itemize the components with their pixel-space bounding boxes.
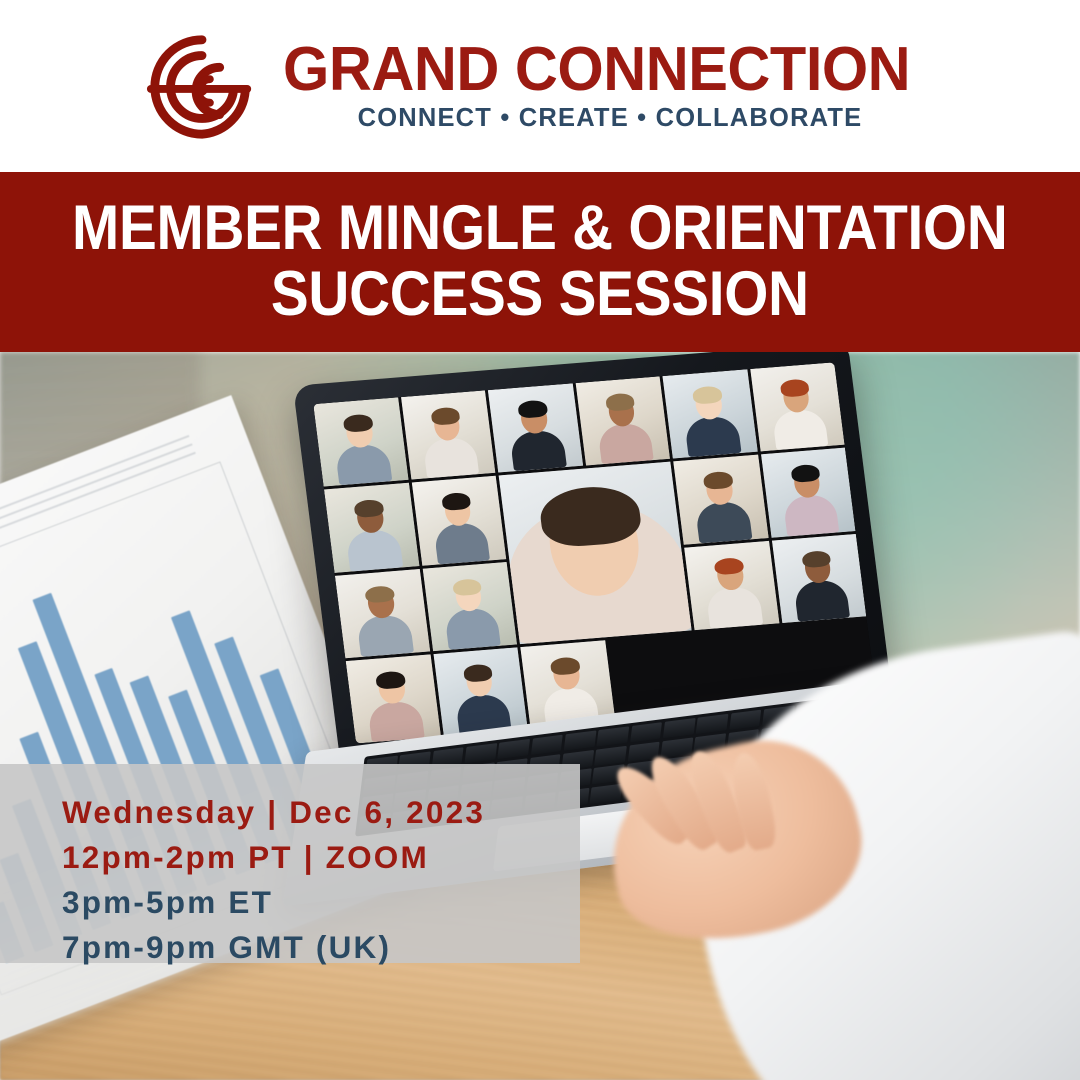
keyboard-key[interactable] — [663, 718, 696, 738]
video-call-grid — [313, 362, 877, 743]
video-tile[interactable] — [662, 369, 757, 458]
participant-hair — [354, 499, 385, 518]
video-tile[interactable] — [771, 533, 866, 622]
title-banner: MEMBER MINGLE & ORIENTATION SUCCESS SESS… — [0, 172, 1080, 352]
brand-tagline: CONNECT • CREATE • COLLABORATE — [358, 103, 863, 134]
participant-hair — [430, 407, 461, 426]
header-logo-bar: GRAND CONNECTION CONNECT • CREATE • COLL… — [0, 0, 1080, 172]
video-tile[interactable] — [324, 483, 419, 572]
video-tile[interactable] — [488, 383, 583, 472]
participant-hair — [692, 386, 723, 405]
video-tile[interactable] — [313, 397, 408, 486]
participant-hair — [550, 656, 581, 675]
keyboard-key[interactable] — [597, 726, 630, 746]
keyboard-key[interactable] — [564, 731, 597, 751]
participant-hair — [703, 471, 734, 490]
keyboard-key[interactable] — [464, 743, 497, 763]
title-line-1: MEMBER MINGLE & ORIENTATION — [72, 196, 1008, 262]
hero-photo — [0, 352, 1080, 1080]
details-line-1: Wednesday | Dec 6, 2023 — [62, 790, 580, 835]
concentric-target-c-icon — [143, 31, 261, 143]
participant-hair — [452, 578, 483, 597]
participant-hair — [343, 414, 374, 433]
participant-hair — [779, 379, 810, 398]
participant-hair — [714, 557, 745, 576]
logo-wordmark: GRAND CONNECTION CONNECT • CREATE • COLL… — [283, 41, 936, 134]
details-line-2: 12pm-2pm PT | ZOOM — [62, 835, 580, 880]
video-tile[interactable] — [761, 448, 856, 537]
participant-hair — [364, 585, 395, 604]
keyboard-key[interactable] — [696, 714, 729, 734]
title-line-2: SUCCESS SESSION — [271, 262, 809, 328]
video-tile[interactable] — [401, 390, 496, 479]
video-tile[interactable] — [750, 362, 845, 451]
participant-hair — [605, 393, 636, 412]
keyboard-key[interactable] — [590, 784, 623, 804]
keyboard-key[interactable] — [594, 745, 627, 765]
brand-name: GRAND CONNECTION — [283, 41, 910, 98]
flyer-canvas: GRAND CONNECTION CONNECT • CREATE • COLL… — [0, 0, 1080, 1080]
logo-lockup: GRAND CONNECTION CONNECT • CREATE • COLL… — [143, 31, 936, 143]
participant-hair — [801, 550, 832, 569]
participant-hair — [517, 400, 548, 419]
video-tile[interactable] — [335, 569, 430, 658]
keyboard-key[interactable] — [531, 735, 564, 755]
participant-hair — [790, 464, 821, 483]
video-tile[interactable] — [346, 654, 441, 743]
keyboard-key[interactable] — [630, 722, 663, 742]
video-tile[interactable] — [422, 562, 517, 651]
participant-hair — [375, 670, 406, 689]
keyboard-key[interactable] — [729, 710, 762, 730]
laptop-screen — [313, 362, 877, 743]
video-tile[interactable] — [433, 647, 528, 736]
participant-hair — [441, 492, 472, 511]
video-tile[interactable] — [673, 455, 768, 544]
keyboard-key[interactable] — [661, 737, 694, 757]
event-details-panel: Wednesday | Dec 6, 2023 12pm-2pm PT | ZO… — [0, 764, 580, 963]
details-line-4: 7pm-9pm GMT (UK) — [62, 925, 580, 970]
video-tile[interactable] — [684, 540, 779, 629]
video-tile[interactable] — [411, 476, 506, 565]
video-tile-speaker[interactable] — [499, 462, 692, 644]
video-tile[interactable] — [575, 376, 670, 465]
keyboard-key[interactable] — [498, 739, 531, 759]
participant-hair — [463, 663, 494, 682]
details-line-3: 3pm-5pm ET — [62, 880, 580, 925]
